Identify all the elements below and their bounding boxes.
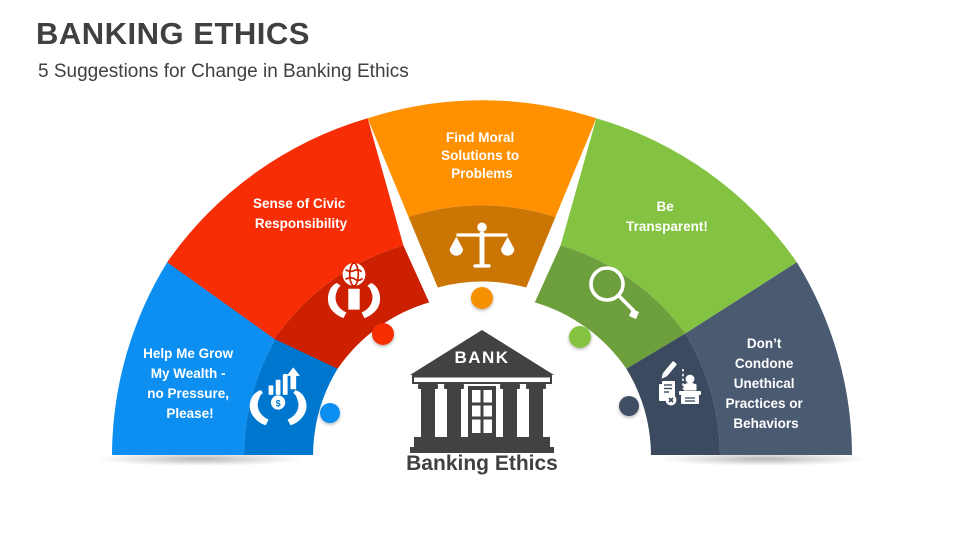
connector-dot-3[interactable] — [471, 287, 493, 309]
center-caption: Banking Ethics — [406, 452, 558, 475]
bank-word: BANK — [454, 348, 509, 367]
bank-building-icon: BANK — [410, 330, 554, 453]
connector-dot-1[interactable] — [320, 403, 340, 423]
segment-label-3: Find Moral Solutions to Problems — [441, 130, 523, 181]
connector-dot-5[interactable] — [619, 396, 639, 416]
connector-dot-4[interactable] — [569, 326, 591, 348]
banking-ethics-arc-diagram: Help Me Grow My Wealth - no Pressure, Pl… — [0, 0, 960, 540]
svg-text:$: $ — [276, 398, 281, 408]
slide-canvas: BANKING ETHICS 5 Suggestions for Change … — [0, 0, 960, 540]
connector-dot-2[interactable] — [372, 323, 394, 345]
